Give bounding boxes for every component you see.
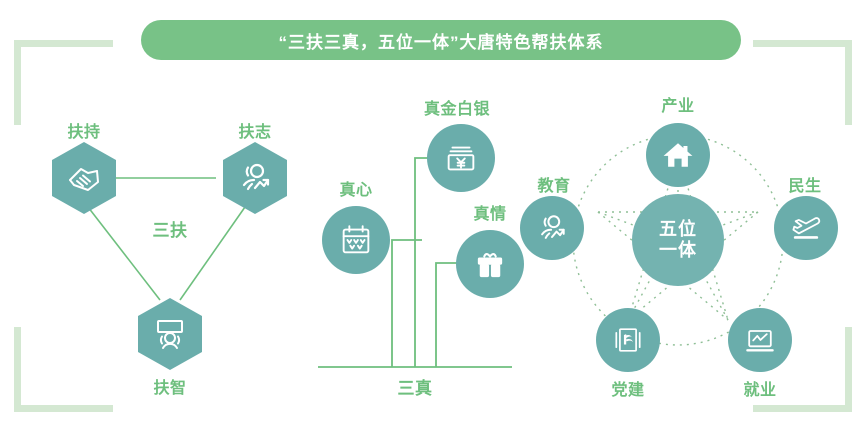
person-whiteboard-icon [150,314,190,354]
node-zhenqing[interactable] [456,230,524,298]
infographic-canvas: “三扶三真，五位一体”大唐特色帮扶体系 扶持 扶志 [0,0,866,430]
node-label-minsheng: 民生 [788,172,821,196]
node-dangjian[interactable] [596,308,660,372]
panel-sanzhen-branches: 真心 真金白银 [300,0,540,430]
node-label-fuzhi-wisdom: 扶智 [153,374,186,398]
node-label-zhenjinbaiyin: 真金白银 [424,95,490,119]
gift-box-icon [471,245,509,283]
money-yuan-icon [442,139,480,177]
node-zhenjinbaiyin[interactable] [427,124,495,192]
node-zhenxin[interactable] [322,206,390,274]
center-label-line1: 五位 [659,219,697,240]
person-growth-arrow-icon [534,210,570,246]
triangle-connectors [0,0,300,430]
group-label-sanfu: 三扶 [153,216,188,241]
node-label-chanye: 产业 [661,92,694,116]
panel-sanfu-triangle: 扶持 扶志 [0,0,300,430]
node-jiuye[interactable] [728,308,792,372]
person-growth-arrow-icon [235,158,275,198]
node-label-zhenqing: 真情 [473,200,506,224]
node-minsheng[interactable] [774,196,838,260]
laptop-chart-icon [742,322,778,358]
node-label-dangjian: 党建 [611,376,644,400]
calendar-check-icon [337,221,375,259]
party-emblem-book-icon [610,322,646,358]
center-label-line2: 一体 [659,240,697,261]
node-label-zhenxin: 真心 [339,176,372,200]
pentagon-center: 五位 一体 [632,194,724,286]
node-label-fuchi: 扶持 [67,118,100,142]
node-label-jiuye: 就业 [743,376,776,400]
node-label-jiaoyu: 教育 [537,172,570,196]
node-jiaoyu[interactable] [520,196,584,260]
node-chanye[interactable] [646,123,710,187]
airplane-icon [788,210,824,246]
house-icon [660,137,696,173]
panel-wuweiyiti-pentagon: 五位 一体 产业 民生 [530,0,866,430]
handshake-icon [64,158,104,198]
group-label-sanzhen: 三真 [398,374,433,399]
node-label-fuzhi-will: 扶志 [238,118,271,142]
